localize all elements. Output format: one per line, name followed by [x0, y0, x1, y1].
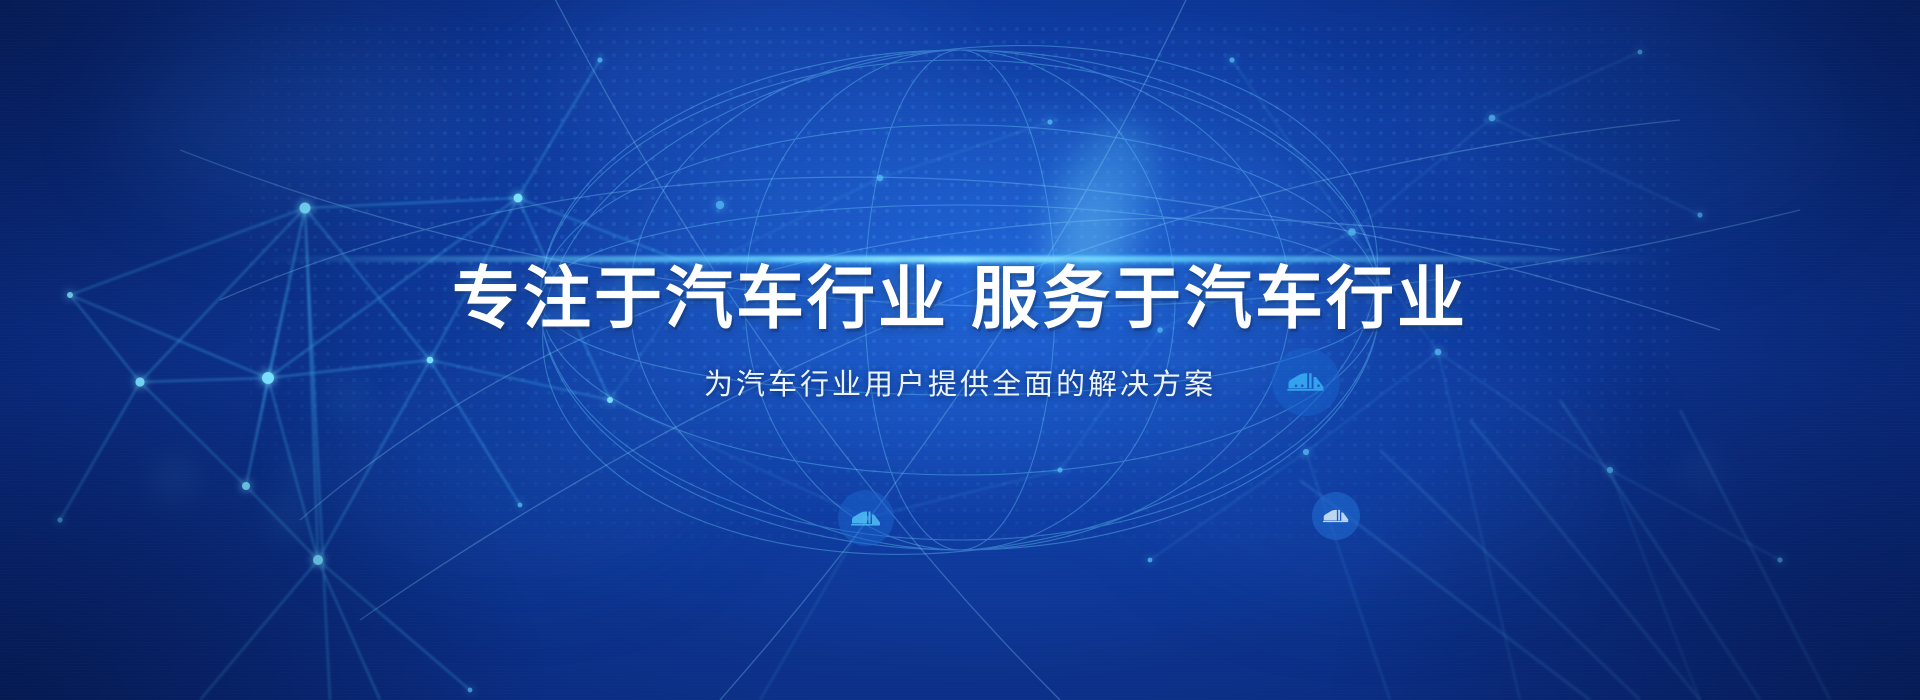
- banner-subheadline: 为汽车行业用户提供全面的解决方案: [704, 361, 1216, 403]
- banner-headline: 专注于汽车行业 服务于汽车行业: [452, 261, 1468, 337]
- hero-banner: 专注于汽车行业 服务于汽车行业 为汽车行业用户提供全面的解决方案: [0, 0, 1920, 700]
- banner-content: 专注于汽车行业 服务于汽车行业 为汽车行业用户提供全面的解决方案: [0, 0, 1920, 700]
